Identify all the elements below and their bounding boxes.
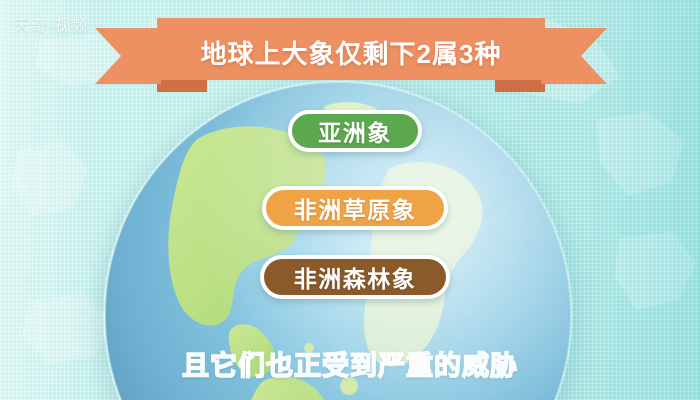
species-label-african-forest-elephant: 非洲森林象 — [260, 255, 450, 299]
species-label-african-savanna-elephant: 非洲草原象 — [262, 186, 448, 230]
background-left-band — [0, 0, 96, 400]
species-label-asian-elephant: 亚洲象 — [288, 110, 422, 152]
species-label-text: 亚洲象 — [318, 114, 392, 148]
video-subtitle: 且它们也正受到严重的威胁 — [0, 344, 700, 383]
channel-watermark: 天奇·视频 — [14, 14, 89, 35]
species-label-text: 非洲森林象 — [294, 260, 417, 294]
title-ribbon: 地球上大象仅剩下2属3种 — [95, 18, 607, 92]
banner-title: 地球上大象仅剩下2属3种 — [95, 34, 607, 74]
video-frame: 天奇·视频 — [0, 0, 700, 400]
species-label-text: 非洲草原象 — [294, 191, 417, 225]
